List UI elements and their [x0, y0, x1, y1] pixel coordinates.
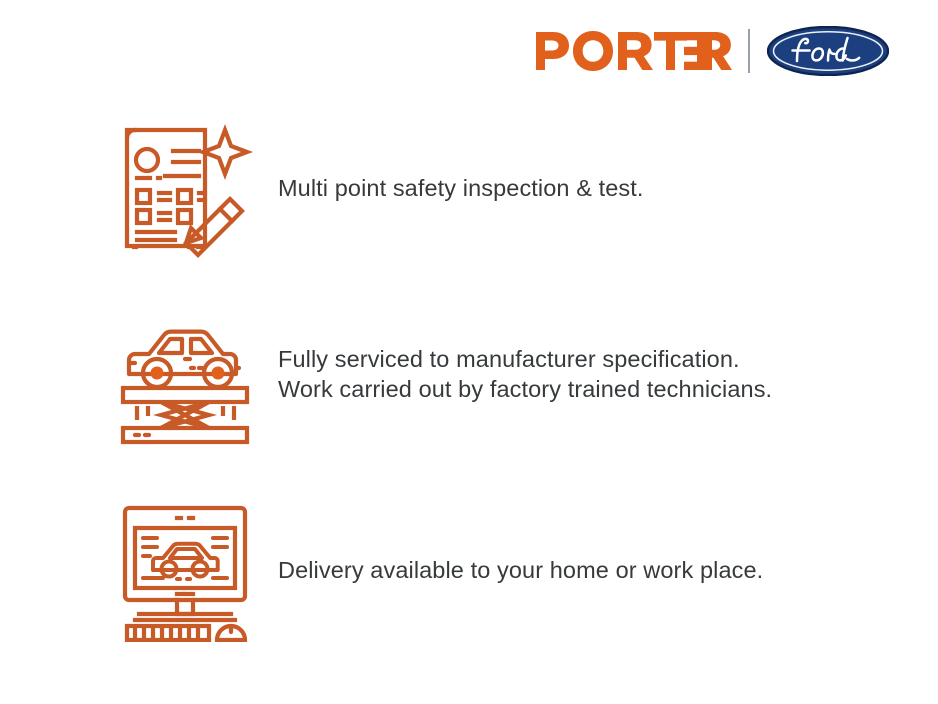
porter-logo: [536, 31, 732, 71]
brand-lockup: [536, 22, 889, 80]
feature-row: Fully serviced to manufacturer specifica…: [110, 298, 772, 450]
promo-banner: Multi point safety inspection & test.: [0, 0, 938, 704]
feature-row: Multi point safety inspection & test.: [110, 112, 644, 264]
feature-row: Delivery available to your home or work …: [110, 494, 763, 646]
brand-divider: [748, 29, 750, 73]
feature-text: Multi point safety inspection & test.: [278, 173, 644, 203]
car-on-scissor-lift-icon: [110, 298, 260, 450]
ford-logo: [767, 26, 889, 76]
feature-text: Fully serviced to manufacturer specifica…: [278, 344, 772, 404]
computer-monitor-car-icon: [110, 494, 260, 646]
clipboard-checklist-pencil-icon: [110, 112, 260, 264]
feature-text: Delivery available to your home or work …: [278, 555, 763, 585]
